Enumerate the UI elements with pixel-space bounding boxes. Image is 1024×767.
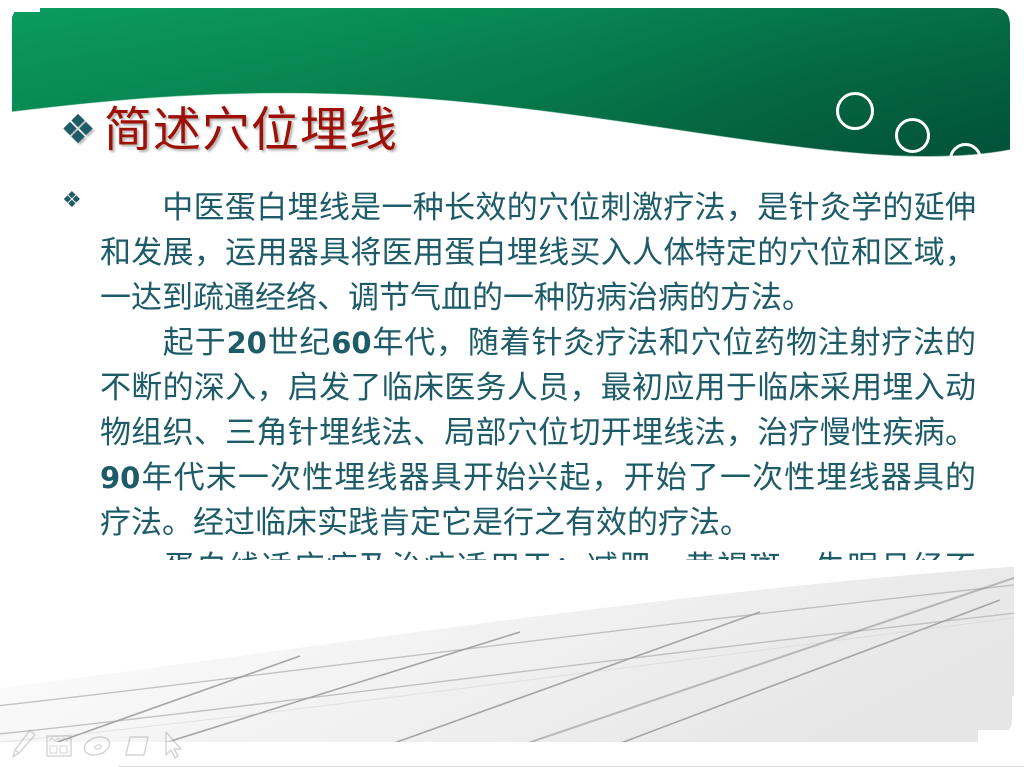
- body-paragraph-2: 起于20世纪60年代，随着针灸疗法和穴位药物注射疗法的不断的深入，启发了临床医务…: [56, 321, 976, 546]
- body-paragraph-3: 蛋白线适应症及治疗适用于：减肥、黄褐斑、失眠月经不调、便秘、更年期综合证。: [56, 546, 976, 636]
- body-paragraph-1-text: 中医蛋白埋线是一种长效的穴位刺激疗法，是针灸学的延伸和发展，运用器具将医用蛋白埋…: [100, 190, 976, 316]
- emphasis-number: 90: [100, 461, 140, 495]
- ink-color-palette-icon[interactable]: [44, 731, 74, 761]
- eraser-icon[interactable]: [80, 731, 114, 761]
- slide-title: ❖ 简述穴位埋线: [60, 105, 398, 155]
- body-text-run: 世纪: [267, 325, 331, 361]
- slide-corner-mask-top-left: [0, 0, 40, 40]
- presentation-slide: ❖ 简述穴位埋线 ❖ 中医蛋白埋线是一种长效的穴位刺激疗法，是针灸学的延伸和发展…: [0, 0, 1024, 767]
- body-text-run: 年代末一次性埋线器具开始兴起，开始了一次性埋线器具的疗法。经过临床实践肯定它是行…: [100, 460, 976, 541]
- pen-icon[interactable]: [8, 727, 38, 761]
- emphasis-number: 60: [331, 326, 371, 360]
- decoration-circle-3: [949, 143, 982, 176]
- decoration-circle-1: [836, 92, 874, 130]
- emphasis-number: 20: [226, 326, 266, 360]
- slide-body: ❖ 中医蛋白埋线是一种长效的穴位刺激疗法，是针灸学的延伸和发展，运用器具将医用蛋…: [56, 186, 976, 636]
- body-paragraph-1: ❖ 中医蛋白埋线是一种长效的穴位刺激疗法，是针灸学的延伸和发展，运用器具将医用蛋…: [56, 186, 976, 321]
- body-paragraph-2-text: 起于20世纪60年代，随着针灸疗法和穴位药物注射疗法的不断的深入，启发了临床医务…: [100, 325, 976, 541]
- highlighter-shape-icon[interactable]: [120, 731, 154, 761]
- slide-corner-mask-bottom-right: [978, 696, 1024, 742]
- pointer-arrow-icon[interactable]: [160, 729, 186, 761]
- slide-title-text: 简述穴位埋线: [104, 105, 398, 155]
- body-paragraph-3-text: 蛋白线适应症及治疗适用于：减肥、黄褐斑、失眠月经不调、便秘、更年期综合证。: [100, 550, 976, 631]
- ink-annotation-toolbar[interactable]: [8, 727, 186, 761]
- diamond-cluster-icon: ❖: [62, 190, 82, 212]
- diamond-cluster-icon: ❖: [60, 110, 96, 150]
- decoration-circle-2: [895, 118, 930, 153]
- body-text-run: 起于: [162, 325, 226, 361]
